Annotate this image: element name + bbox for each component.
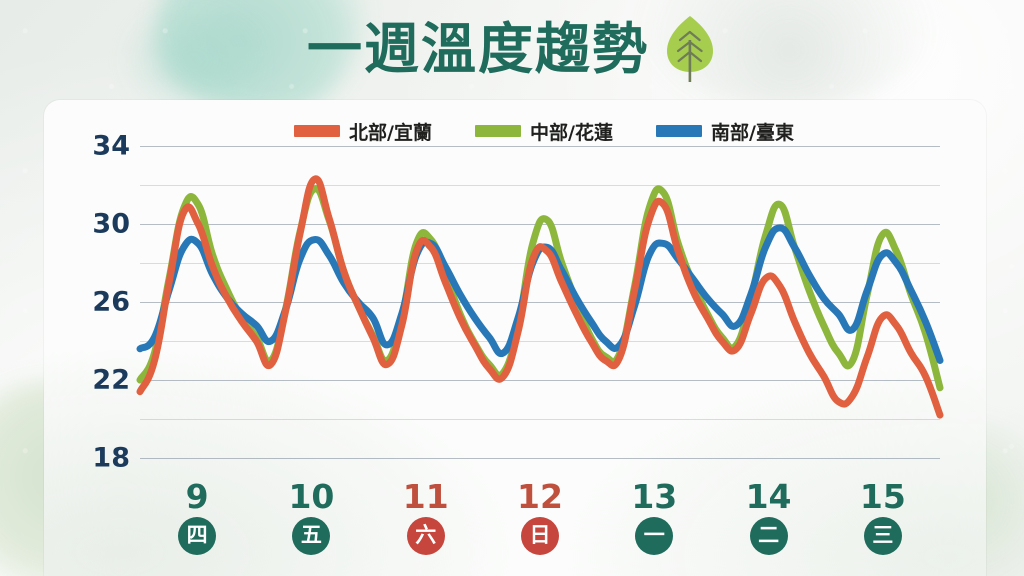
screenshot-root: 一週溫度趨勢 北部/宜蘭 中部/花蓮 xyxy=(0,0,1024,576)
temperature-line-chart xyxy=(44,100,986,576)
leaf-icon xyxy=(663,14,717,84)
page-title-text: 一週溫度趨勢 xyxy=(307,22,649,77)
page-title: 一週溫度趨勢 xyxy=(0,8,1024,90)
chart-card: 北部/宜蘭 中部/花蓮 南部/臺東 3430262218 9四10五11六12日… xyxy=(44,100,986,576)
chart-plot-area: 3430262218 9四10五11六12日13一14二15三 xyxy=(44,100,986,576)
